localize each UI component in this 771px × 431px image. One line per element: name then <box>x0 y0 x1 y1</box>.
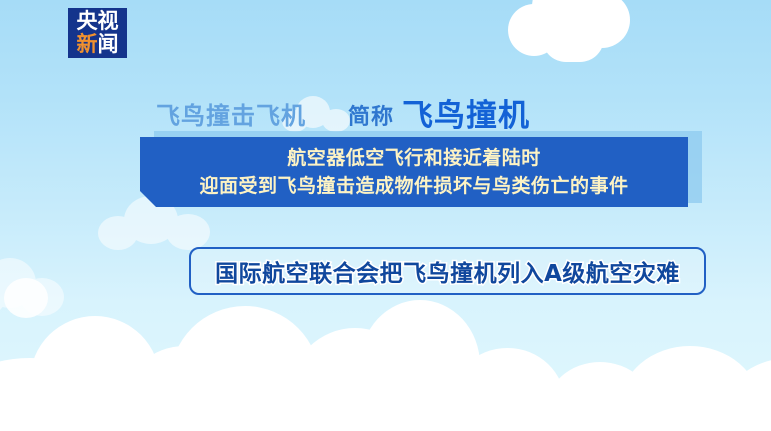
logo-line-2: 新 闻 <box>77 33 119 56</box>
logo-glyph-yang: 央 <box>77 10 98 33</box>
classification-callout: 国际航空联合会把飞鸟撞机列入A级航空灾难 <box>189 247 706 295</box>
logo-glyph-shi: 视 <box>98 10 119 33</box>
headline-term-short: 飞鸟撞机 <box>402 90 530 135</box>
page-title: 飞鸟撞击飞机 简称 飞鸟撞机 <box>156 88 530 133</box>
cloud-corner-dot-icon <box>4 278 50 320</box>
definition-line-2: 迎面受到飞鸟撞击造成物件损坏与鸟类伤亡的事件 <box>199 172 628 200</box>
logo-line-1: 央 视 <box>77 10 119 33</box>
definition-banner: 航空器低空飞行和接近着陆时 迎面受到飞鸟撞击造成物件损坏与鸟类伤亡的事件 <box>140 131 702 207</box>
cloud-bank-bottom-icon <box>0 300 771 431</box>
cloud-top-right-icon <box>508 0 638 60</box>
cctv-news-logo: 央 视 新 闻 <box>68 8 127 58</box>
logo-glyph-wen: 闻 <box>98 33 119 56</box>
headline-abbrev-label: 简称 <box>348 99 394 131</box>
classification-callout-text: 国际航空联合会把飞鸟撞机列入A级航空灾难 <box>215 254 680 288</box>
definition-line-1: 航空器低空飞行和接近着陆时 <box>287 144 541 172</box>
news-graphic-canvas: 央 视 新 闻 飞鸟撞击飞机 简称 飞鸟撞机 航空器低空飞行和接近着陆时 迎面受… <box>0 0 771 431</box>
cloud-left-edge-icon <box>0 258 64 316</box>
headline-term-full: 飞鸟撞击飞机 <box>156 96 306 131</box>
definition-banner-body: 航空器低空飞行和接近着陆时 迎面受到飞鸟撞击造成物件损坏与鸟类伤亡的事件 <box>140 137 688 207</box>
logo-glyph-xin: 新 <box>77 33 98 56</box>
